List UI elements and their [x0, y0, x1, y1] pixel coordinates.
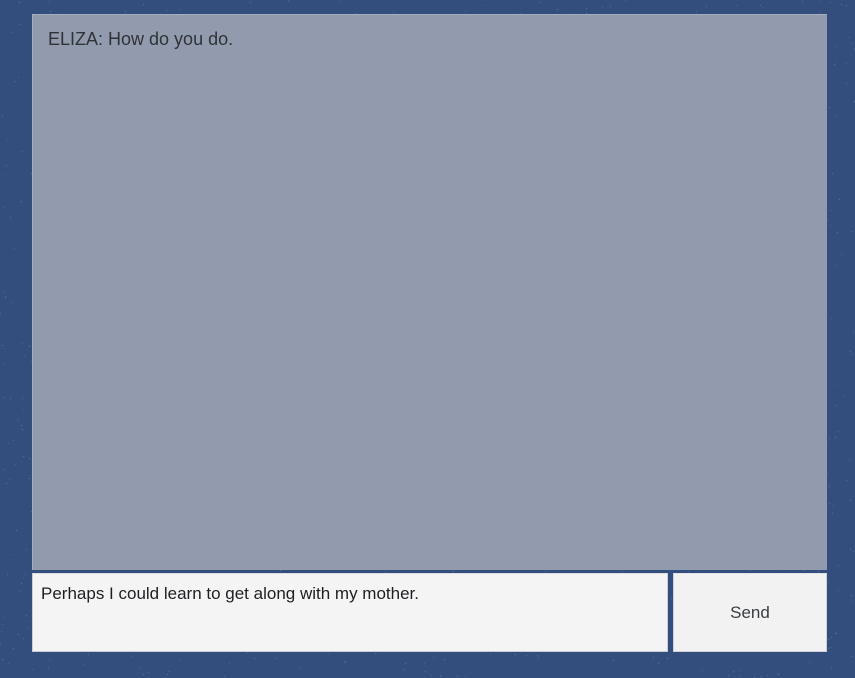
chat-message: ELIZA: How do you do.	[48, 28, 817, 50]
chat-transcript-lines: ELIZA: How do you do.	[48, 28, 817, 50]
send-button[interactable]: Send	[673, 573, 827, 652]
eliza-app-window: ELIZA: How do you do. Send	[32, 14, 827, 652]
message-composer: Send	[32, 573, 827, 652]
message-input[interactable]	[32, 573, 668, 652]
chat-transcript-panel[interactable]: ELIZA: How do you do.	[32, 14, 827, 570]
